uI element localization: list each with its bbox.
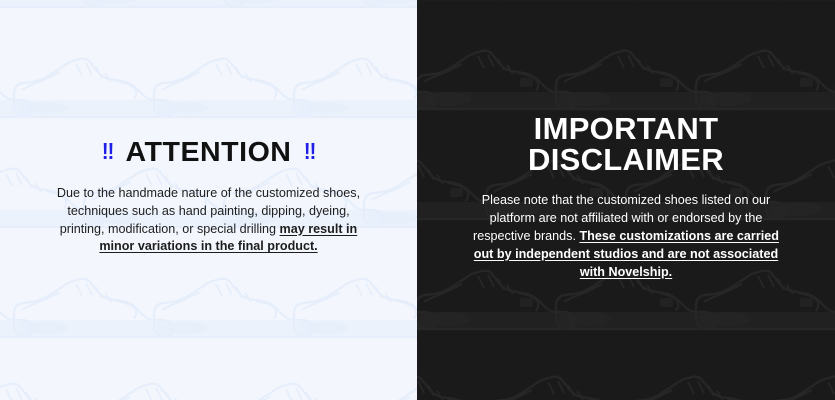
attention-body: Due to the handmade nature of the custom… (44, 185, 373, 257)
disclaimer-banner: !! ATTENTION !! Due to the handmade natu… (0, 0, 835, 400)
disclaimer-heading-line-2: DISCLAIMER (469, 145, 783, 175)
disclaimer-panel: IMPORTANT DISCLAIMER Please note that th… (417, 0, 835, 400)
attention-heading: !! ATTENTION !! (41, 138, 377, 166)
attention-content: !! ATTENTION !! Due to the handmade natu… (0, 138, 417, 257)
attention-title: ATTENTION (126, 138, 292, 166)
disclaimer-body: Please note that the customized shoes li… (469, 192, 783, 281)
exclamation-marks-left-icon: !! (102, 140, 114, 163)
exclamation-marks-right-icon: !! (304, 140, 316, 163)
disclaimer-heading-line-1: IMPORTANT (469, 114, 783, 144)
disclaimer-heading: IMPORTANT DISCLAIMER (469, 114, 783, 175)
disclaimer-content: IMPORTANT DISCLAIMER Please note that th… (417, 114, 835, 281)
attention-panel: !! ATTENTION !! Due to the handmade natu… (0, 0, 417, 400)
